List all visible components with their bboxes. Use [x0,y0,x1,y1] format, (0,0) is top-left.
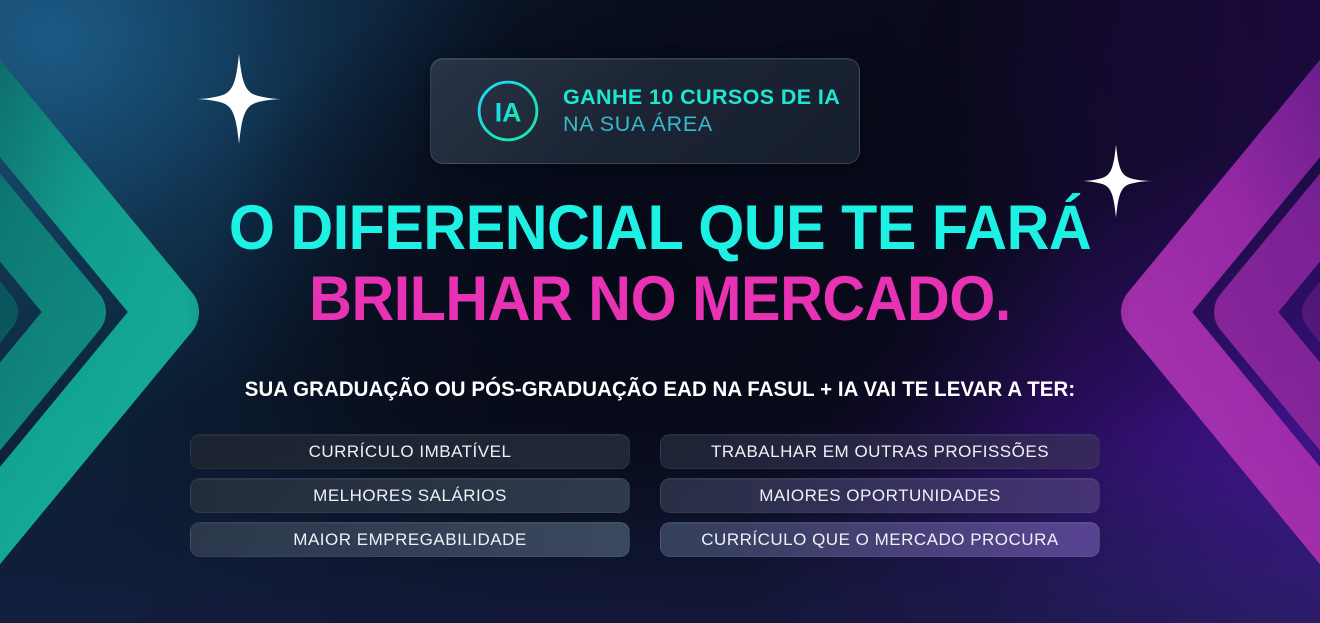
benefit-pill[interactable]: TRABALHAR EM OUTRAS PROFISSÕES [660,434,1100,469]
ia-courses-badge[interactable]: IA GANHE 10 CURSOS DE IA NA SUA ÁREA [430,58,860,164]
benefit-pill[interactable]: CURRÍCULO QUE O MERCADO PROCURA [660,522,1100,557]
benefit-pill[interactable]: CURRÍCULO IMBATÍVEL [190,434,630,469]
ia-logo-text: IA [495,98,522,128]
benefit-pill[interactable]: MELHORES SALÁRIOS [190,478,630,513]
promo-banner: IA GANHE 10 CURSOS DE IA NA SUA ÁREA O D… [0,0,1320,623]
badge-subtitle: NA SUA ÁREA [563,114,840,136]
headline-line-2: BRILHAR NO MERCADO. [40,267,1281,332]
ia-circle-logo-icon: IA [475,78,541,144]
badge-text-group: GANHE 10 CURSOS DE IA NA SUA ÁREA [563,87,840,135]
benefits-grid: CURRÍCULO IMBATÍVEL TRABALHAR EM OUTRAS … [190,434,1130,557]
benefit-pill[interactable]: MAIOR EMPREGABILIDADE [190,522,630,557]
benefit-pill[interactable]: MAIORES OPORTUNIDADES [660,478,1100,513]
headline-line-1: O DIFERENCIAL QUE TE FARÁ [40,196,1281,261]
subheadline: SUA GRADUAÇÃO OU PÓS-GRADUAÇÃO EAD NA FA… [33,377,1287,402]
headline-block: O DIFERENCIAL QUE TE FARÁ BRILHAR NO MER… [0,196,1320,332]
badge-title: GANHE 10 CURSOS DE IA [563,87,840,109]
